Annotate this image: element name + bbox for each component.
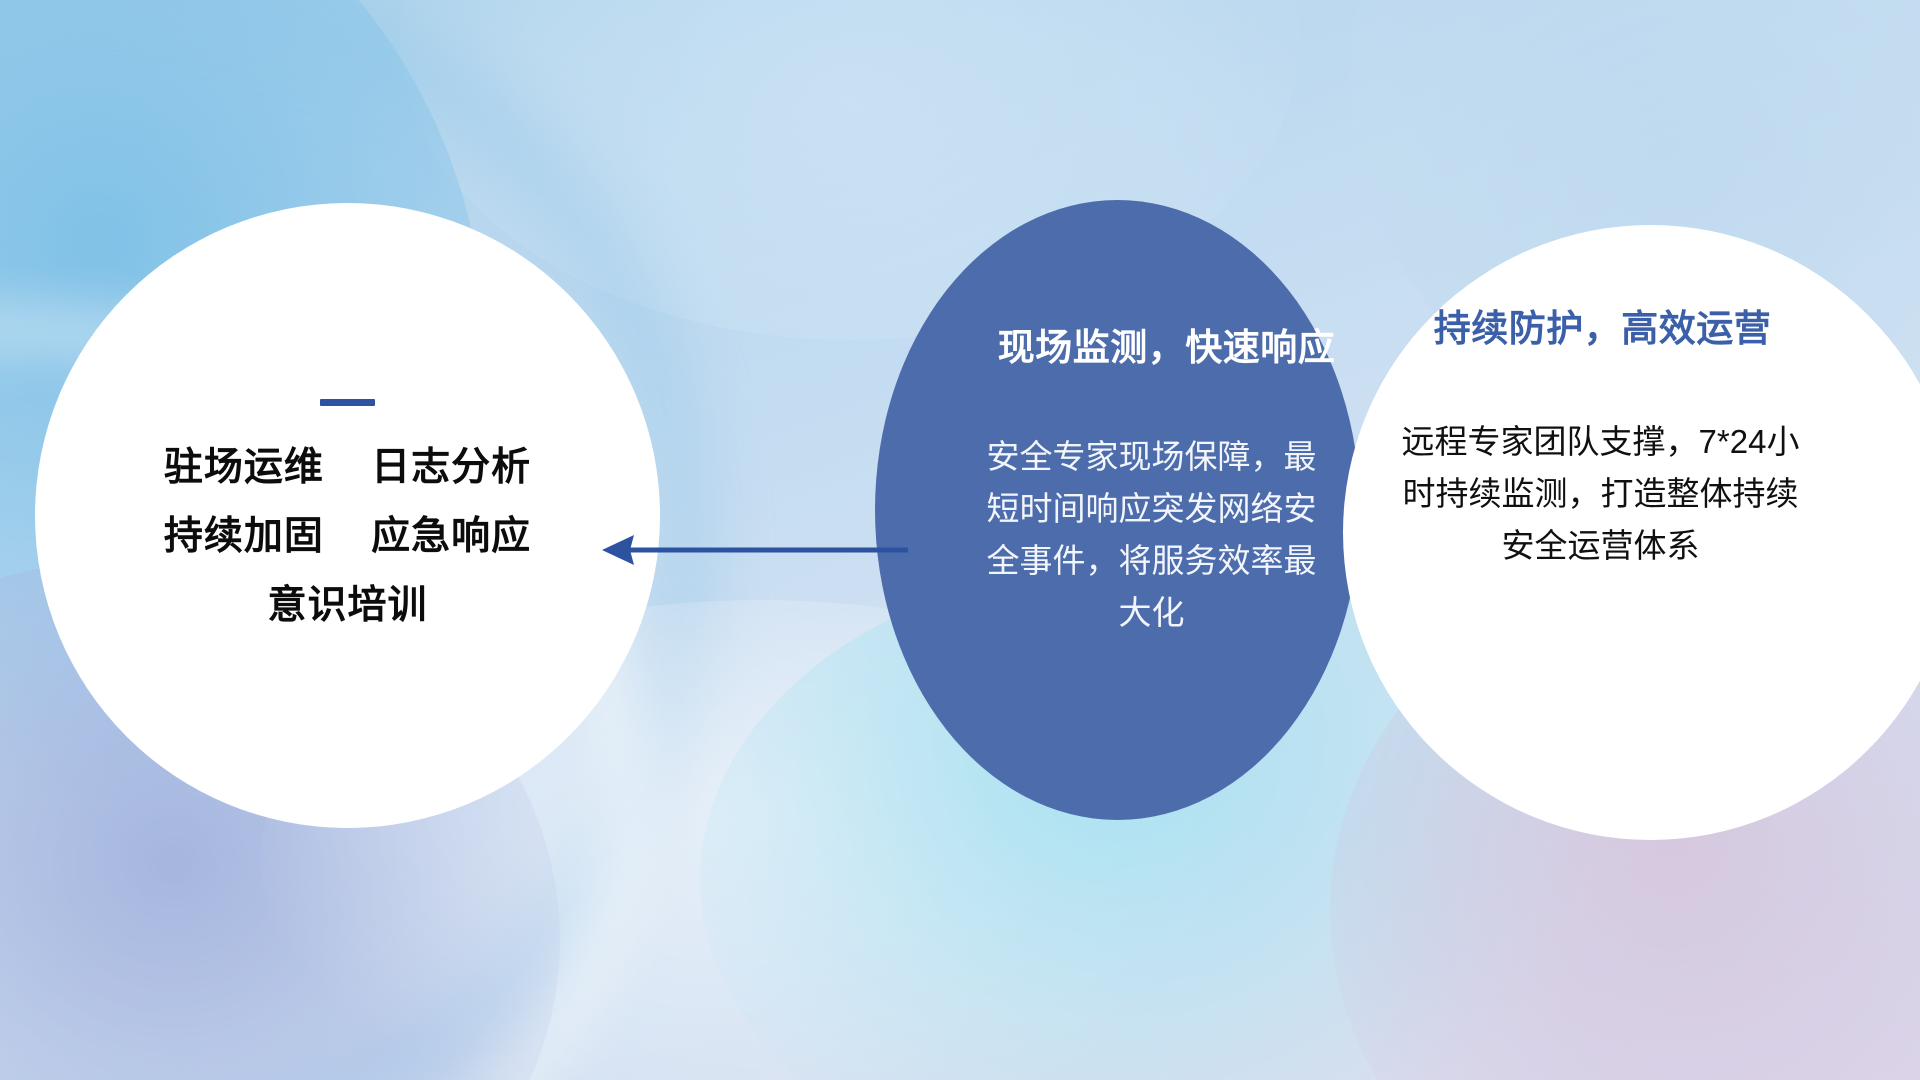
onsite-monitoring-circle[interactable]: 现场监测，快速响应 安全专家现场保障，最短时间响应突发网络安全事件，将服务效率最…: [875, 200, 1360, 820]
service-capabilities-circle[interactable]: 驻场运维 日志分析 持续加固 应急响应 意识培训: [35, 203, 660, 828]
horizontal-dash-icon: [320, 399, 375, 406]
continuous-protection-title: 持续防护，高效运营: [1434, 298, 1772, 352]
capability-line: 持续加固 应急响应: [35, 517, 660, 558]
onsite-monitoring-body: 安全专家现场保障，最短时间响应突发网络安全事件，将服务效率最大化: [982, 431, 1322, 640]
arrow-left-icon: [600, 525, 910, 575]
continuous-protection-body: 远程专家团队支撑，7*24小时持续监测，打造整体持续安全运营体系: [1391, 416, 1811, 572]
capability-list: 驻场运维 日志分析 持续加固 应急响应 意识培训: [35, 448, 660, 627]
onsite-monitoring-title: 现场监测，快速响应: [998, 317, 1336, 371]
capability-line: 意识培训: [35, 586, 660, 627]
slide-canvas: 驻场运维 日志分析 持续加固 应急响应 意识培训 现场监测，快速响应 安全专家现…: [0, 0, 1920, 1080]
continuous-protection-circle[interactable]: 持续防护，高效运营 远程专家团队支撑，7*24小时持续监测，打造整体持续安全运营…: [1343, 225, 1920, 840]
capability-line: 驻场运维 日志分析: [35, 448, 660, 489]
